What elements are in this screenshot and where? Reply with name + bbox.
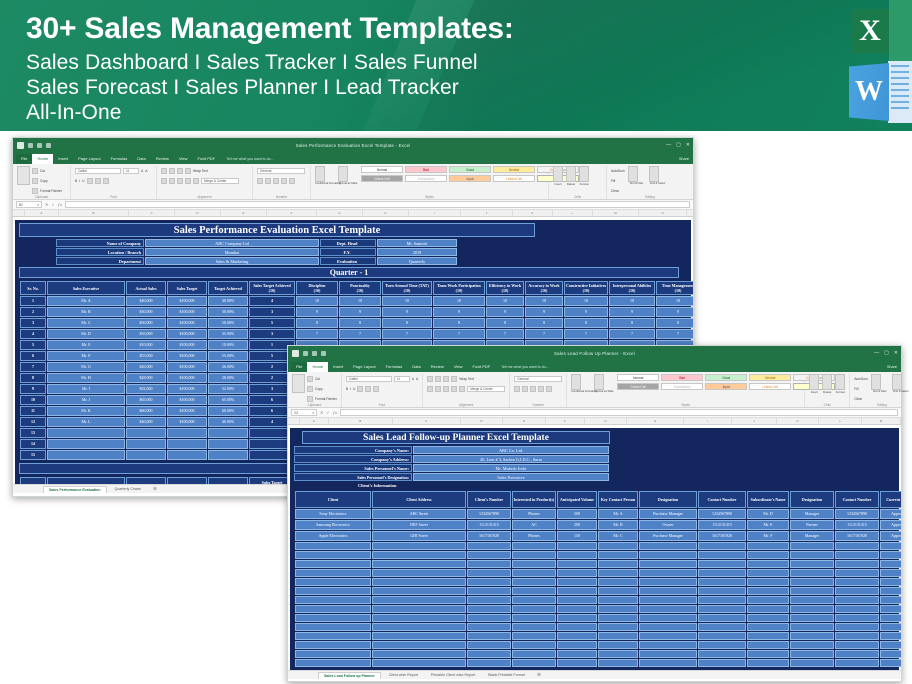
maximize-icon-2[interactable]: ▢ [884,351,889,356]
cell-client-address[interactable] [372,542,466,550]
cell-clients-number[interactable] [467,659,511,667]
cell-sub-contact-number[interactable] [835,641,879,649]
cell-current-status[interactable] [880,605,901,613]
th2-clients-number[interactable]: Client's Number [467,491,511,508]
cell-key-contact-person[interactable] [598,587,638,595]
value-companys-address[interactable]: 20, Line # 3, Sachin G.I.D.C., Surat [413,455,609,463]
cell-interested-products[interactable]: Phones [512,509,556,519]
cell-designation[interactable] [639,596,697,604]
paste-icon-2[interactable] [292,374,305,393]
col2-M[interactable]: M [862,418,901,424]
tab2-view[interactable]: View [449,362,468,372]
col-N[interactable]: N [639,210,687,216]
th2-sub-contact-number[interactable]: Contact Number [835,491,879,508]
cell-subordinates-name[interactable]: Mr. F [747,531,789,541]
cell-client[interactable] [295,659,371,667]
cell-contact-number[interactable]: 1617181920 [698,531,746,541]
cell-client[interactable] [295,551,371,559]
merge-center-button-2[interactable]: Merge & Center [467,386,505,392]
decrease-font-icon[interactable]: A [145,169,147,173]
col2-C[interactable]: C [393,418,461,424]
value-personnel-name[interactable]: Mr. Mukesh Joshi [413,464,609,472]
cell-client-address[interactable] [372,551,466,559]
decrease-decimal-icon[interactable] [289,178,295,184]
table-row-empty[interactable] [295,578,901,586]
cell-subordinates-name[interactable] [747,596,789,604]
tab2-home[interactable]: Home [307,362,328,372]
cell-designation[interactable] [639,605,697,613]
number-format-select-2[interactable]: General [514,376,562,382]
cell-key-contact-person[interactable] [598,623,638,631]
minimize-icon-2[interactable]: — [874,351,879,356]
cell-subordinates-name[interactable] [747,551,789,559]
cell-target-achieved[interactable]: 28.00% [208,373,248,383]
ribbon-group-number[interactable]: General Number [253,166,311,199]
cell-subordinates-name[interactable] [747,542,789,550]
share-button[interactable]: Share [679,154,689,164]
cell-sub-designation[interactable] [790,587,834,595]
cell-contact-number[interactable] [698,605,746,613]
cell-actual-sales[interactable] [126,428,166,438]
tab2-foxit-pdf[interactable]: Foxit PDF [467,362,495,372]
paste-icon[interactable] [17,166,30,185]
cell-current-status[interactable] [880,587,901,595]
cell-anticipated-volume[interactable] [557,632,597,640]
tab-file[interactable]: File [16,154,32,164]
format-as-table-icon-2[interactable] [594,374,604,390]
col-L[interactable]: L [553,210,593,216]
table-row[interactable]: 3Mr. C$50,000$100,00050.00%5888888888773 [20,318,693,328]
cell-interested-products[interactable] [512,542,556,550]
align-top-icon-2[interactable] [427,376,433,382]
window2-ribbon[interactable]: Cut Copy Format Painter Clipboard Calibr… [288,372,901,408]
cell-score-8[interactable]: 7 [609,329,655,339]
number-format-select[interactable]: General [257,168,305,174]
style-bad[interactable]: Bad [405,166,447,173]
cell-subordinates-name[interactable] [747,605,789,613]
cell-sub-contact-number[interactable] [835,560,879,568]
delete-label-2[interactable]: Delete [822,390,832,394]
cell-sales-target[interactable]: $100,000 [167,340,207,350]
cell-key-contact-person[interactable] [598,614,638,622]
table-row-empty[interactable] [295,650,901,658]
col-C[interactable]: C [129,210,175,216]
value-personnel-designation[interactable]: Sales Executive [413,473,609,481]
orientation-icon[interactable] [185,168,191,174]
window2-title-bar[interactable]: Sales Lead Follow Up Planner - Excel — ▢… [288,346,901,361]
cell-target-achieved[interactable]: 35.00% [208,329,248,339]
style-neutral-2[interactable]: Neutral [749,374,791,381]
cell-anticipated-volume[interactable] [557,641,597,649]
ribbon2-group-cells[interactable]: Insert Delete Format Cells [805,374,850,407]
cell-sales-target[interactable]: $100,000 [167,351,207,361]
cell-current-status[interactable] [880,659,901,667]
cell-client-address[interactable] [372,623,466,631]
cell-anticipated-volume[interactable] [557,614,597,622]
increase-font-icon[interactable]: A [141,169,143,173]
q2-th-1[interactable] [20,477,46,484]
align-middle-icon-2[interactable] [435,376,441,382]
th-sales-target-achieved[interactable]: Sales Target Achieved(10) [249,281,295,295]
align-center-icon[interactable] [169,178,175,184]
cell-actual-sales[interactable]: $40,000 [126,296,166,306]
cell-clients-number[interactable] [467,623,511,631]
insert-function-icon[interactable]: ƒx [58,202,62,207]
col-H[interactable]: H [363,210,409,216]
tab-review[interactable]: Review [151,154,174,164]
value-evaluation[interactable]: Quarterly [377,257,457,265]
col2-I[interactable]: I [684,418,733,424]
table-row-empty[interactable] [295,551,901,559]
cell-score-7[interactable]: 7 [564,329,608,339]
cell-client-address[interactable]: GHI Street [372,531,466,541]
cell-subordinates-name[interactable] [747,623,789,631]
cell-sales-target[interactable]: $100,000 [167,307,207,317]
clear-button-2[interactable]: Clear [854,397,862,401]
tab-formulas[interactable]: Formulas [106,154,133,164]
cell-interested-products[interactable] [512,659,556,667]
font-family-select[interactable]: Calibri [75,168,121,174]
fill-button[interactable]: Fill [611,179,615,183]
cell-interested-products[interactable] [512,632,556,640]
cell-designation[interactable]: Purchase Manager [639,531,697,541]
cell-subordinates-name[interactable] [747,650,789,658]
cell-anticipated-volume[interactable]: 200 [557,520,597,530]
cell-key-contact-person[interactable] [598,560,638,568]
cell-anticipated-volume[interactable] [557,596,597,604]
cell-clients-number[interactable] [467,551,511,559]
decrease-indent-icon[interactable] [185,178,191,184]
cell-sales-target[interactable]: $100,000 [167,296,207,306]
cell-current-status[interactable] [880,614,901,622]
cell-designation[interactable] [639,650,697,658]
autosum-button-2[interactable]: AutoSum [854,377,868,381]
add-sheet-icon-2[interactable]: ⊕ [533,672,545,678]
cell-sub-contact-number[interactable]: 1617181920 [835,531,879,541]
cell-client[interactable] [295,614,371,622]
format-as-table-icon[interactable] [338,166,348,182]
formula-input[interactable] [65,201,690,208]
col2-L[interactable]: L [819,418,862,424]
cell-sub-designation[interactable] [790,650,834,658]
cell-actual-sales[interactable]: $35,000 [126,329,166,339]
style-explanatory-2[interactable]: Explanatory [661,383,703,390]
cell-key-contact-person[interactable] [598,632,638,640]
percent-icon-2[interactable] [522,386,528,392]
enter-formula-icon-2[interactable]: ✓ [326,410,329,415]
conditional-formatting-label[interactable]: Conditional Formatting [315,182,335,185]
cell-actual-sales[interactable]: $60,000 [126,406,166,416]
cell-clients-number[interactable] [467,605,511,613]
cell-sales-executive[interactable]: Mr. G [47,362,125,372]
delete-label[interactable]: Delete [566,182,576,186]
cell-clients-number[interactable]: 1617181920 [467,531,511,541]
cell-sales-executive[interactable] [47,439,125,449]
format-label-2[interactable]: Format [835,390,845,394]
tab2-review[interactable]: Review [426,362,449,372]
cell-sub-designation[interactable] [790,578,834,586]
wrap-text-button[interactable]: Wrap Text [193,169,208,173]
borders-icon-2[interactable] [357,386,363,392]
cell-anticipated-volume[interactable] [557,587,597,595]
window2-column-headers[interactable]: A B C D E F G H I J K L M [288,418,901,425]
cell-interested-products[interactable] [512,596,556,604]
share-button-2[interactable]: Share [887,362,897,372]
cell-clients-number[interactable] [467,614,511,622]
cell-current-status[interactable] [880,560,901,568]
cell-score-9[interactable]: 10 [656,296,693,306]
q2-th-5[interactable] [208,477,248,484]
merge-center-button[interactable]: Merge & Center [201,178,239,184]
cell-sales-target[interactable]: $100,000 [167,384,207,394]
bold-button-2[interactable]: B [346,387,348,391]
cell-designation[interactable] [639,560,697,568]
client-information-rows[interactable]: Sony ElectronicsABC Street1234567890Phon… [295,509,901,667]
table-row-empty[interactable] [295,587,901,595]
cell-actual-sales[interactable]: $55,000 [126,351,166,361]
cell-sales-executive[interactable]: Mr. A [47,296,125,306]
cell-contact-number[interactable]: 1112131415 [698,520,746,530]
cell-client-address[interactable] [372,632,466,640]
cell-designation[interactable]: Owner [639,520,697,530]
cell-key-contact-person[interactable]: Mr. B [598,520,638,530]
ribbon2-group-number[interactable]: General Number [510,374,567,407]
th2-designation[interactable]: Designation [639,491,697,508]
tab2-data[interactable]: Data [407,362,425,372]
cell-sales-executive[interactable]: Mr. I [47,384,125,394]
cell-client-address[interactable] [372,659,466,667]
cell-clients-number[interactable] [467,569,511,577]
cell-clients-number[interactable] [467,578,511,586]
th2-contact-number[interactable]: Contact Number [698,491,746,508]
col2-F[interactable]: F [546,418,585,424]
font-color-icon[interactable] [103,178,109,184]
cell-key-contact-person[interactable] [598,659,638,667]
cell-score-5[interactable]: 9 [486,307,524,317]
cell-sales-executive[interactable]: Mr. F [47,351,125,361]
table-row-empty[interactable] [295,569,901,577]
window1-formula-bar[interactable]: B2▾ ✕ ✓ ƒx [13,200,693,210]
cell-designation[interactable] [639,614,697,622]
cell-designation[interactable] [639,551,697,559]
cell-subordinates-name[interactable] [747,641,789,649]
cell-target-achieved[interactable]: 55.00% [208,351,248,361]
cell-target-achieved[interactable] [208,428,248,438]
cell-client[interactable] [295,605,371,613]
tab-home[interactable]: Home [32,154,53,164]
sort-filter-icon-2[interactable] [871,374,881,390]
cell-current-status[interactable] [880,632,901,640]
cell-sales-target[interactable] [167,439,207,449]
cell-interested-products[interactable]: Phones [512,531,556,541]
style-input-2[interactable]: Input [705,383,747,390]
cell-target-achieved[interactable]: 10.00% [208,340,248,350]
window2-formula-bar[interactable]: G2▾ ✕ ✓ ƒx [288,408,901,418]
cell-sr-no[interactable]: 6 [20,351,46,361]
insert-label[interactable]: Insert [553,182,563,186]
cell-subordinates-name[interactable] [747,587,789,595]
italic-button[interactable]: I [79,179,80,183]
col-D[interactable]: D [175,210,221,216]
cell-subordinates-name[interactable] [747,659,789,667]
th-efficiency[interactable]: Efficiency in Work(10) [486,281,524,295]
cell-score-2[interactable]: 9 [339,307,381,317]
cell-subordinates-name[interactable] [747,560,789,568]
add-sheet-icon[interactable]: ⊕ [149,486,161,492]
format-cells-icon[interactable] [579,166,589,182]
col2-E[interactable]: E [503,418,546,424]
cell-sub-designation[interactable] [790,614,834,622]
table-row-empty[interactable] [295,614,901,622]
cell-score-1[interactable]: 8 [296,318,338,328]
fill-color-icon[interactable] [95,178,101,184]
style-neutral[interactable]: Neutral [493,166,535,173]
cell-sr-no[interactable]: 10 [20,395,46,405]
decrease-font-icon-2[interactable]: A [416,377,418,381]
cell-target-achieved[interactable]: 26.00% [208,362,248,372]
cell-sales-target[interactable] [167,450,207,460]
format-as-table-label[interactable]: Format as Table [338,182,358,185]
increase-decimal-icon-2[interactable] [538,386,544,392]
cell-anticipated-volume[interactable] [557,623,597,631]
col-B[interactable]: B [59,210,129,216]
th2-current-status[interactable]: Current Status [880,491,901,508]
style-normal-2[interactable]: Normal [617,374,659,381]
cell-sales-target-achieved[interactable]: 3 [249,307,295,317]
copy-label[interactable]: Copy [40,179,48,183]
col-K[interactable]: K [513,210,553,216]
cell-subordinates-name[interactable] [747,569,789,577]
cell-sub-designation[interactable] [790,596,834,604]
cell-target-achieved[interactable] [208,439,248,449]
window1-controls[interactable]: — ▢ ✕ [666,143,690,148]
find-select-icon-2[interactable] [892,374,902,390]
format-cells-icon-2[interactable] [835,374,845,390]
cell-contact-number[interactable] [698,551,746,559]
cell-anticipated-volume[interactable] [557,560,597,568]
format-painter-icon-2[interactable] [307,396,313,402]
cell-sr-no[interactable]: 4 [20,329,46,339]
cell-clients-number[interactable]: 1234567890 [467,509,511,519]
autosum-button[interactable]: AutoSum [611,169,625,173]
cell-client[interactable] [295,650,371,658]
cell-actual-sales[interactable]: $28,000 [126,373,166,383]
cell-target-achieved[interactable]: 32.00% [208,384,248,394]
cell-client[interactable]: Sony Electronics [295,509,371,519]
format-painter-label[interactable]: Format Painter [40,189,62,193]
cell-contact-number[interactable]: 1234567890 [698,509,746,519]
cell-sales-target[interactable]: $100,000 [167,329,207,339]
cell-actual-sales[interactable]: $30,000 [126,307,166,317]
close-icon[interactable]: ✕ [686,143,690,148]
col2-G[interactable]: G [585,418,628,424]
cell-sales-executive[interactable] [47,428,125,438]
cell-score-6[interactable]: 9 [525,307,563,317]
cell-score-1[interactable]: 7 [296,329,338,339]
cell-score-5[interactable]: 8 [486,318,524,328]
cell-score-9[interactable]: 8 [656,318,693,328]
style-linked-cell-2[interactable]: Linked Cell [749,383,791,390]
formula-input-2[interactable] [340,409,898,416]
q2-th-2[interactable] [47,477,125,484]
delete-cells-icon[interactable] [566,166,576,182]
cell-sr-no[interactable]: 2 [20,307,46,317]
cell-client-address[interactable] [372,560,466,568]
cell-designation[interactable] [639,578,697,586]
cell-key-contact-person[interactable] [598,578,638,586]
th2-client-address[interactable]: Client Address [372,491,466,508]
name-box-2[interactable]: G2▾ [291,409,317,416]
copy-icon[interactable] [32,178,38,184]
col-M[interactable]: M [593,210,639,216]
cell-clients-number[interactable] [467,542,511,550]
cell-actual-sales[interactable]: $40,000 [126,417,166,427]
format-label[interactable]: Format [579,182,589,186]
select-all-corner[interactable] [13,210,25,216]
cell-sub-contact-number[interactable] [835,659,879,667]
table-row[interactable]: Samsung ElectronicsDEF Street1112131415A… [295,520,901,530]
window1-ribbon[interactable]: Cut Copy Format Painter Clipboard Calibr… [13,164,693,200]
cell-sub-designation[interactable] [790,551,834,559]
cell-anticipated-volume[interactable] [557,551,597,559]
window2-ribbon-tabs[interactable]: File Home Insert Page Layout Formulas Da… [288,361,901,372]
cell-clients-number[interactable] [467,560,511,568]
cell-key-contact-person[interactable]: Mr. C [598,531,638,541]
th2-sub-designation[interactable]: Designation [790,491,834,508]
sheet-tab-lead-planner[interactable]: Sales Lead Follow up Planner [318,672,381,679]
cell-client[interactable] [295,560,371,568]
table-row-empty[interactable] [295,632,901,640]
find-select-label-2[interactable]: Find & Select [892,390,910,393]
cell-sub-designation[interactable] [790,659,834,667]
col2-J[interactable]: J [732,418,777,424]
cell-sales-target-achieved[interactable]: 4 [249,296,295,306]
bold-button[interactable]: B [75,179,77,183]
window1-title-bar[interactable]: Sales Performance Evaluation Excel Templ… [13,138,693,153]
value-dept-head[interactable]: Mr. Santosh [377,239,457,247]
cell-sr-no[interactable]: 9 [20,384,46,394]
cell-current-status[interactable] [880,596,901,604]
cell-interested-products[interactable] [512,605,556,613]
cut-icon[interactable] [32,168,38,174]
th2-interested-products[interactable]: Interested in Product(s) [512,491,556,508]
sort-filter-label-2[interactable]: Sort & Filter [871,390,889,393]
col2-K[interactable]: K [777,418,820,424]
cell-score-1[interactable]: 10 [296,296,338,306]
cell-target-achieved[interactable]: 60.00% [208,406,248,416]
cell-client[interactable] [295,623,371,631]
cell-sales-target[interactable]: $100,000 [167,362,207,372]
cell-interested-products[interactable] [512,551,556,559]
cell-contact-number[interactable] [698,569,746,577]
style-normal[interactable]: Normal [361,166,403,173]
cell-contact-number[interactable] [698,659,746,667]
cell-sr-no[interactable]: 1 [20,296,46,306]
cell-score-3[interactable]: 9 [382,307,432,317]
align-bottom-icon[interactable] [177,168,183,174]
cell-anticipated-volume[interactable]: 500 [557,509,597,519]
copy-label-2[interactable]: Copy [315,387,323,391]
fill-button-2[interactable]: Fill [854,387,858,391]
cell-target-achieved[interactable] [208,450,248,460]
format-painter-icon[interactable] [32,188,38,194]
cell-key-contact-person[interactable] [598,641,638,649]
style-check-cell-2[interactable]: Check Cell [617,383,659,390]
formula-buttons-2[interactable]: ✕ ✓ ƒx [320,410,337,415]
cell-clients-number[interactable] [467,587,511,595]
cell-target-achieved[interactable]: 30.00% [208,307,248,317]
cell-sub-contact-number[interactable] [835,569,879,577]
